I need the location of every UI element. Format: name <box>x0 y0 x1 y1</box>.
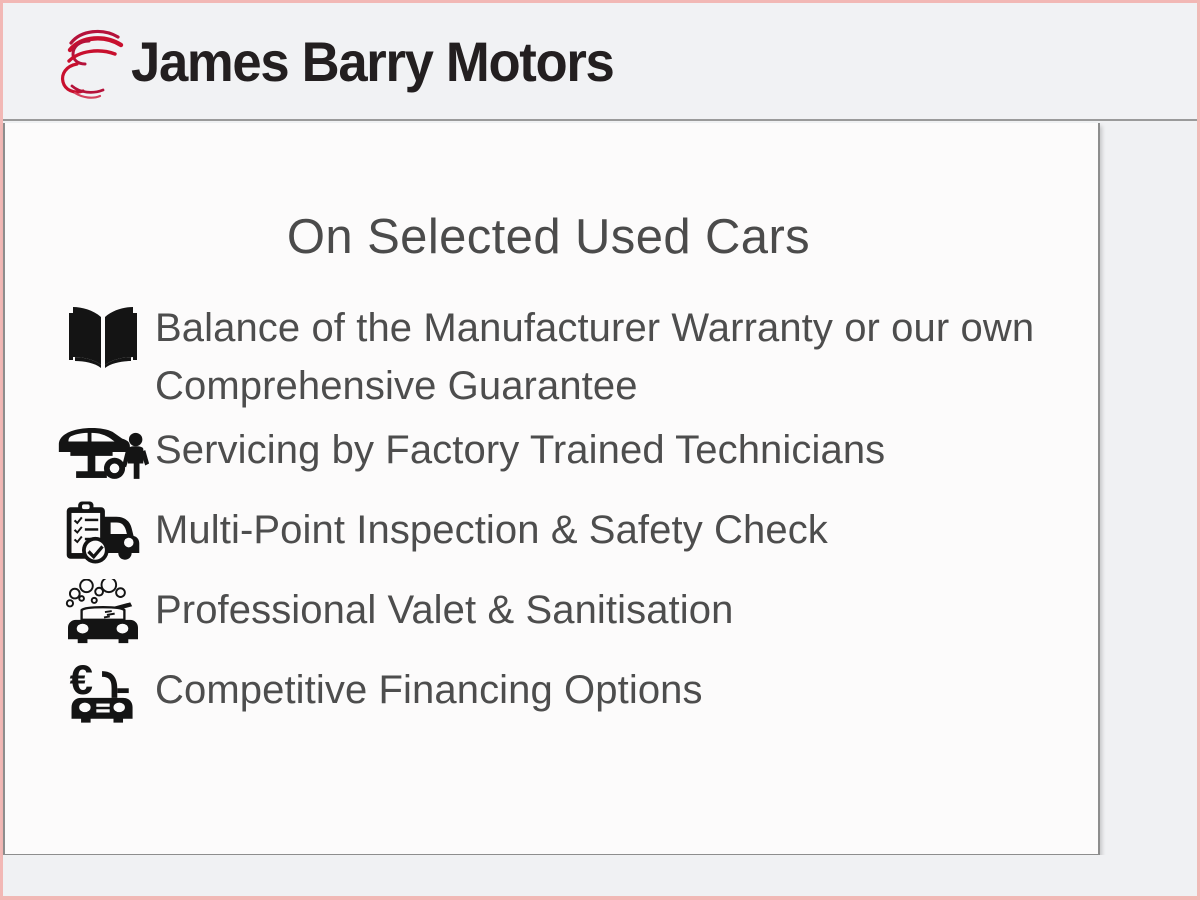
feature-list: Balance of the Manufacturer Warranty or … <box>5 297 1098 739</box>
list-item-label: Balance of the Manufacturer Warranty or … <box>155 297 1098 415</box>
promo-slide: James Barry Motors On Selected Used Cars <box>0 0 1200 900</box>
brand-logo[interactable]: James Barry Motors <box>55 23 644 101</box>
content-card: On Selected Used Cars <box>3 123 1100 856</box>
footer-bar <box>3 855 1197 896</box>
euro-car-finance-icon: € <box>51 659 155 729</box>
list-item: € <box>51 659 1098 739</box>
list-item: Multi-Point Inspection & Safety Check <box>51 499 1098 579</box>
list-item-label: Multi-Point Inspection & Safety Check <box>155 499 828 559</box>
car-wash-bubbles-icon <box>51 579 155 649</box>
list-item-label: Competitive Financing Options <box>155 659 703 719</box>
svg-text:€: € <box>70 659 93 703</box>
list-item-label: Servicing by Factory Trained Technicians <box>155 419 885 479</box>
list-item: Balance of the Manufacturer Warranty or … <box>51 297 1098 419</box>
list-item-label: Professional Valet & Sanitisation <box>155 579 733 639</box>
car-swoosh-logo-icon <box>55 24 129 100</box>
list-item: Professional Valet & Sanitisation <box>51 579 1098 659</box>
page-title: On Selected Used Cars <box>5 209 1098 265</box>
brand-wordmark: James Barry Motors <box>131 34 613 90</box>
clipboard-checklist-car-icon <box>51 499 155 567</box>
open-book-icon <box>51 297 155 369</box>
car-on-lift-technician-icon <box>51 419 155 483</box>
list-item: Servicing by Factory Trained Technicians <box>51 419 1098 499</box>
header-bar: James Barry Motors <box>3 3 1197 121</box>
